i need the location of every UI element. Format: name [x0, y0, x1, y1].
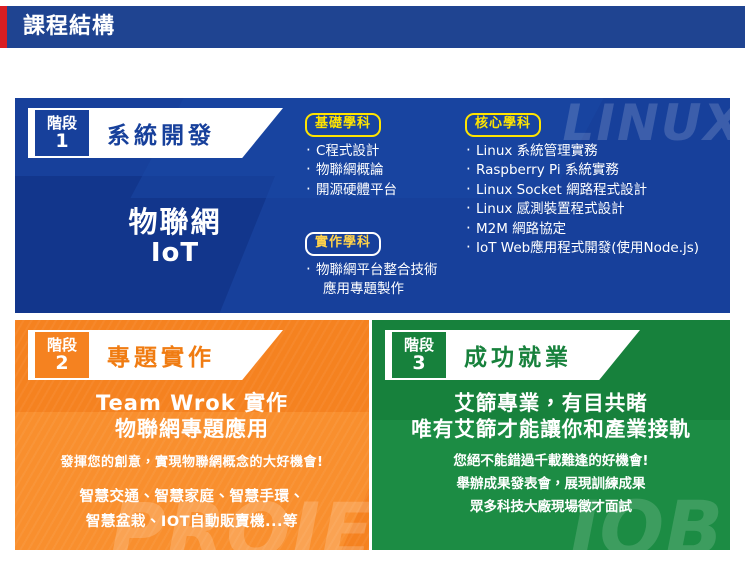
stage-3-name: 成功就業	[464, 330, 572, 380]
iot-hero-line-1: 物聯網	[65, 206, 285, 239]
stage-1-panel: LINUX 階段 1 系統開發 物聯網 IoT 基礎學科 C程式設計 物聯網概論…	[15, 98, 730, 313]
subject-group-basic: 基礎學科 C程式設計 物聯網概論 開源硬體平台	[305, 112, 460, 200]
stage-3-headline-line-2: 唯有艾篩才能讓你和產業接軌	[372, 416, 730, 442]
subject-list-basic: C程式設計 物聯網概論 開源硬體平台	[305, 142, 460, 201]
list-item: 應用專題製作	[305, 280, 470, 300]
list-item: Linux Socket 網路程式設計	[465, 181, 730, 201]
stage-3-banner: 階段 3 成功就業	[385, 330, 572, 380]
subject-group-core-tag: 核心學科	[465, 113, 541, 137]
stage-1-banner: 階段 1 系統開發	[28, 108, 215, 158]
list-item: Linux 系統管理實務	[465, 142, 730, 162]
list-item: 物聯網概論	[305, 161, 460, 181]
stage-2-tagline-line-1: 智慧交通、智慧家庭、智慧手環、	[15, 485, 369, 510]
subject-group-practice-tag: 實作學科	[305, 232, 381, 256]
stage-3-badge: 階段 3	[390, 330, 448, 380]
iot-hero-line-2: IoT	[65, 239, 285, 269]
stage-3-badge-word: 階段	[404, 338, 434, 353]
stage-1-badge-word: 階段	[47, 116, 77, 131]
stage-1-name: 系統開發	[107, 108, 215, 158]
stage-2-name: 專題實作	[107, 330, 215, 380]
stage-2-banner: 階段 2 專題實作	[28, 330, 215, 380]
stage-2-panel: PROJECT 階段 2 專題實作 Team Wrok 實作 物聯網專題應用 發…	[15, 320, 369, 550]
page-title: 課程結構	[23, 16, 115, 38]
stage-3-body: 艾篩專業，有目共睹 唯有艾篩才能讓你和產業接軌 您絕不能錯過千載難逢的好機會! …	[372, 390, 730, 519]
list-item: Linux 感測裝置程式設計	[465, 200, 730, 220]
stage-2-headline: Team Wrok 實作 物聯網專題應用	[15, 390, 369, 442]
stage-2-tagline-line-2: 智慧盆栽、IOT自動販賣機...等	[15, 510, 369, 535]
stage-1-badge-number: 1	[55, 132, 68, 151]
subject-list-practice: 物聯網平台整合技術 應用專題製作	[305, 261, 470, 300]
stage-3-subline-line-3: 眾多科技大廠現場徵才面試	[372, 496, 730, 519]
stage-2-body: Team Wrok 實作 物聯網專題應用 發揮您的創意，實現物聯網概念的大好機會…	[15, 390, 369, 535]
subject-list-core: Linux 系統管理實務 Raspberry Pi 系統實務 Linux Soc…	[465, 142, 730, 259]
list-item: Raspberry Pi 系統實務	[465, 161, 730, 181]
stage-2-taglines: 智慧交通、智慧家庭、智慧手環、 智慧盆栽、IOT自動販賣機...等	[15, 485, 369, 535]
stage-2-badge: 階段 2	[33, 330, 91, 380]
stage-3-badge-number: 3	[412, 354, 425, 373]
stage-3-headline: 艾篩專業，有目共睹 唯有艾篩才能讓你和產業接軌	[372, 390, 730, 442]
stage-2-badge-word: 階段	[47, 338, 77, 353]
stage-3-panel: JOB 階段 3 成功就業 艾篩專業，有目共睹 唯有艾篩才能讓你和產業接軌 您絕…	[372, 320, 730, 550]
stage-3-subline-line-2: 舉辦成果發表會，展現訓練成果	[372, 473, 730, 496]
list-item: 物聯網平台整合技術	[305, 261, 470, 281]
subject-group-basic-tag: 基礎學科	[305, 113, 381, 137]
list-item: 開源硬體平台	[305, 181, 460, 201]
list-item: IoT Web應用程式開發(使用Node.js)	[465, 239, 730, 259]
page-header: 課程結構	[0, 6, 745, 48]
header-accent-bar	[0, 6, 7, 48]
stage-3-sublines: 您絕不能錯過千載難逢的好機會! 舉辦成果發表會，展現訓練成果 眾多科技大廠現場徵…	[372, 450, 730, 519]
list-item: M2M 網路協定	[465, 220, 730, 240]
stage-2-headline-line-2: 物聯網專題應用	[15, 416, 369, 442]
stage-2-badge-number: 2	[55, 354, 68, 373]
subject-group-practice: 實作學科 物聯網平台整合技術 應用專題製作	[305, 231, 470, 300]
stage-3-headline-line-1: 艾篩專業，有目共睹	[372, 390, 730, 416]
list-item: C程式設計	[305, 142, 460, 162]
subject-group-core: 核心學科 Linux 系統管理實務 Raspberry Pi 系統實務 Linu…	[465, 112, 730, 259]
stage-1-badge: 階段 1	[33, 108, 91, 158]
stage-2-headline-line-1: Team Wrok 實作	[15, 390, 369, 416]
stage-2-subline: 發揮您的創意，實現物聯網概念的大好機會!	[15, 454, 369, 472]
iot-hero-title: 物聯網 IoT	[65, 206, 285, 269]
stage-3-subline-line-1: 您絕不能錯過千載難逢的好機會!	[372, 450, 730, 473]
